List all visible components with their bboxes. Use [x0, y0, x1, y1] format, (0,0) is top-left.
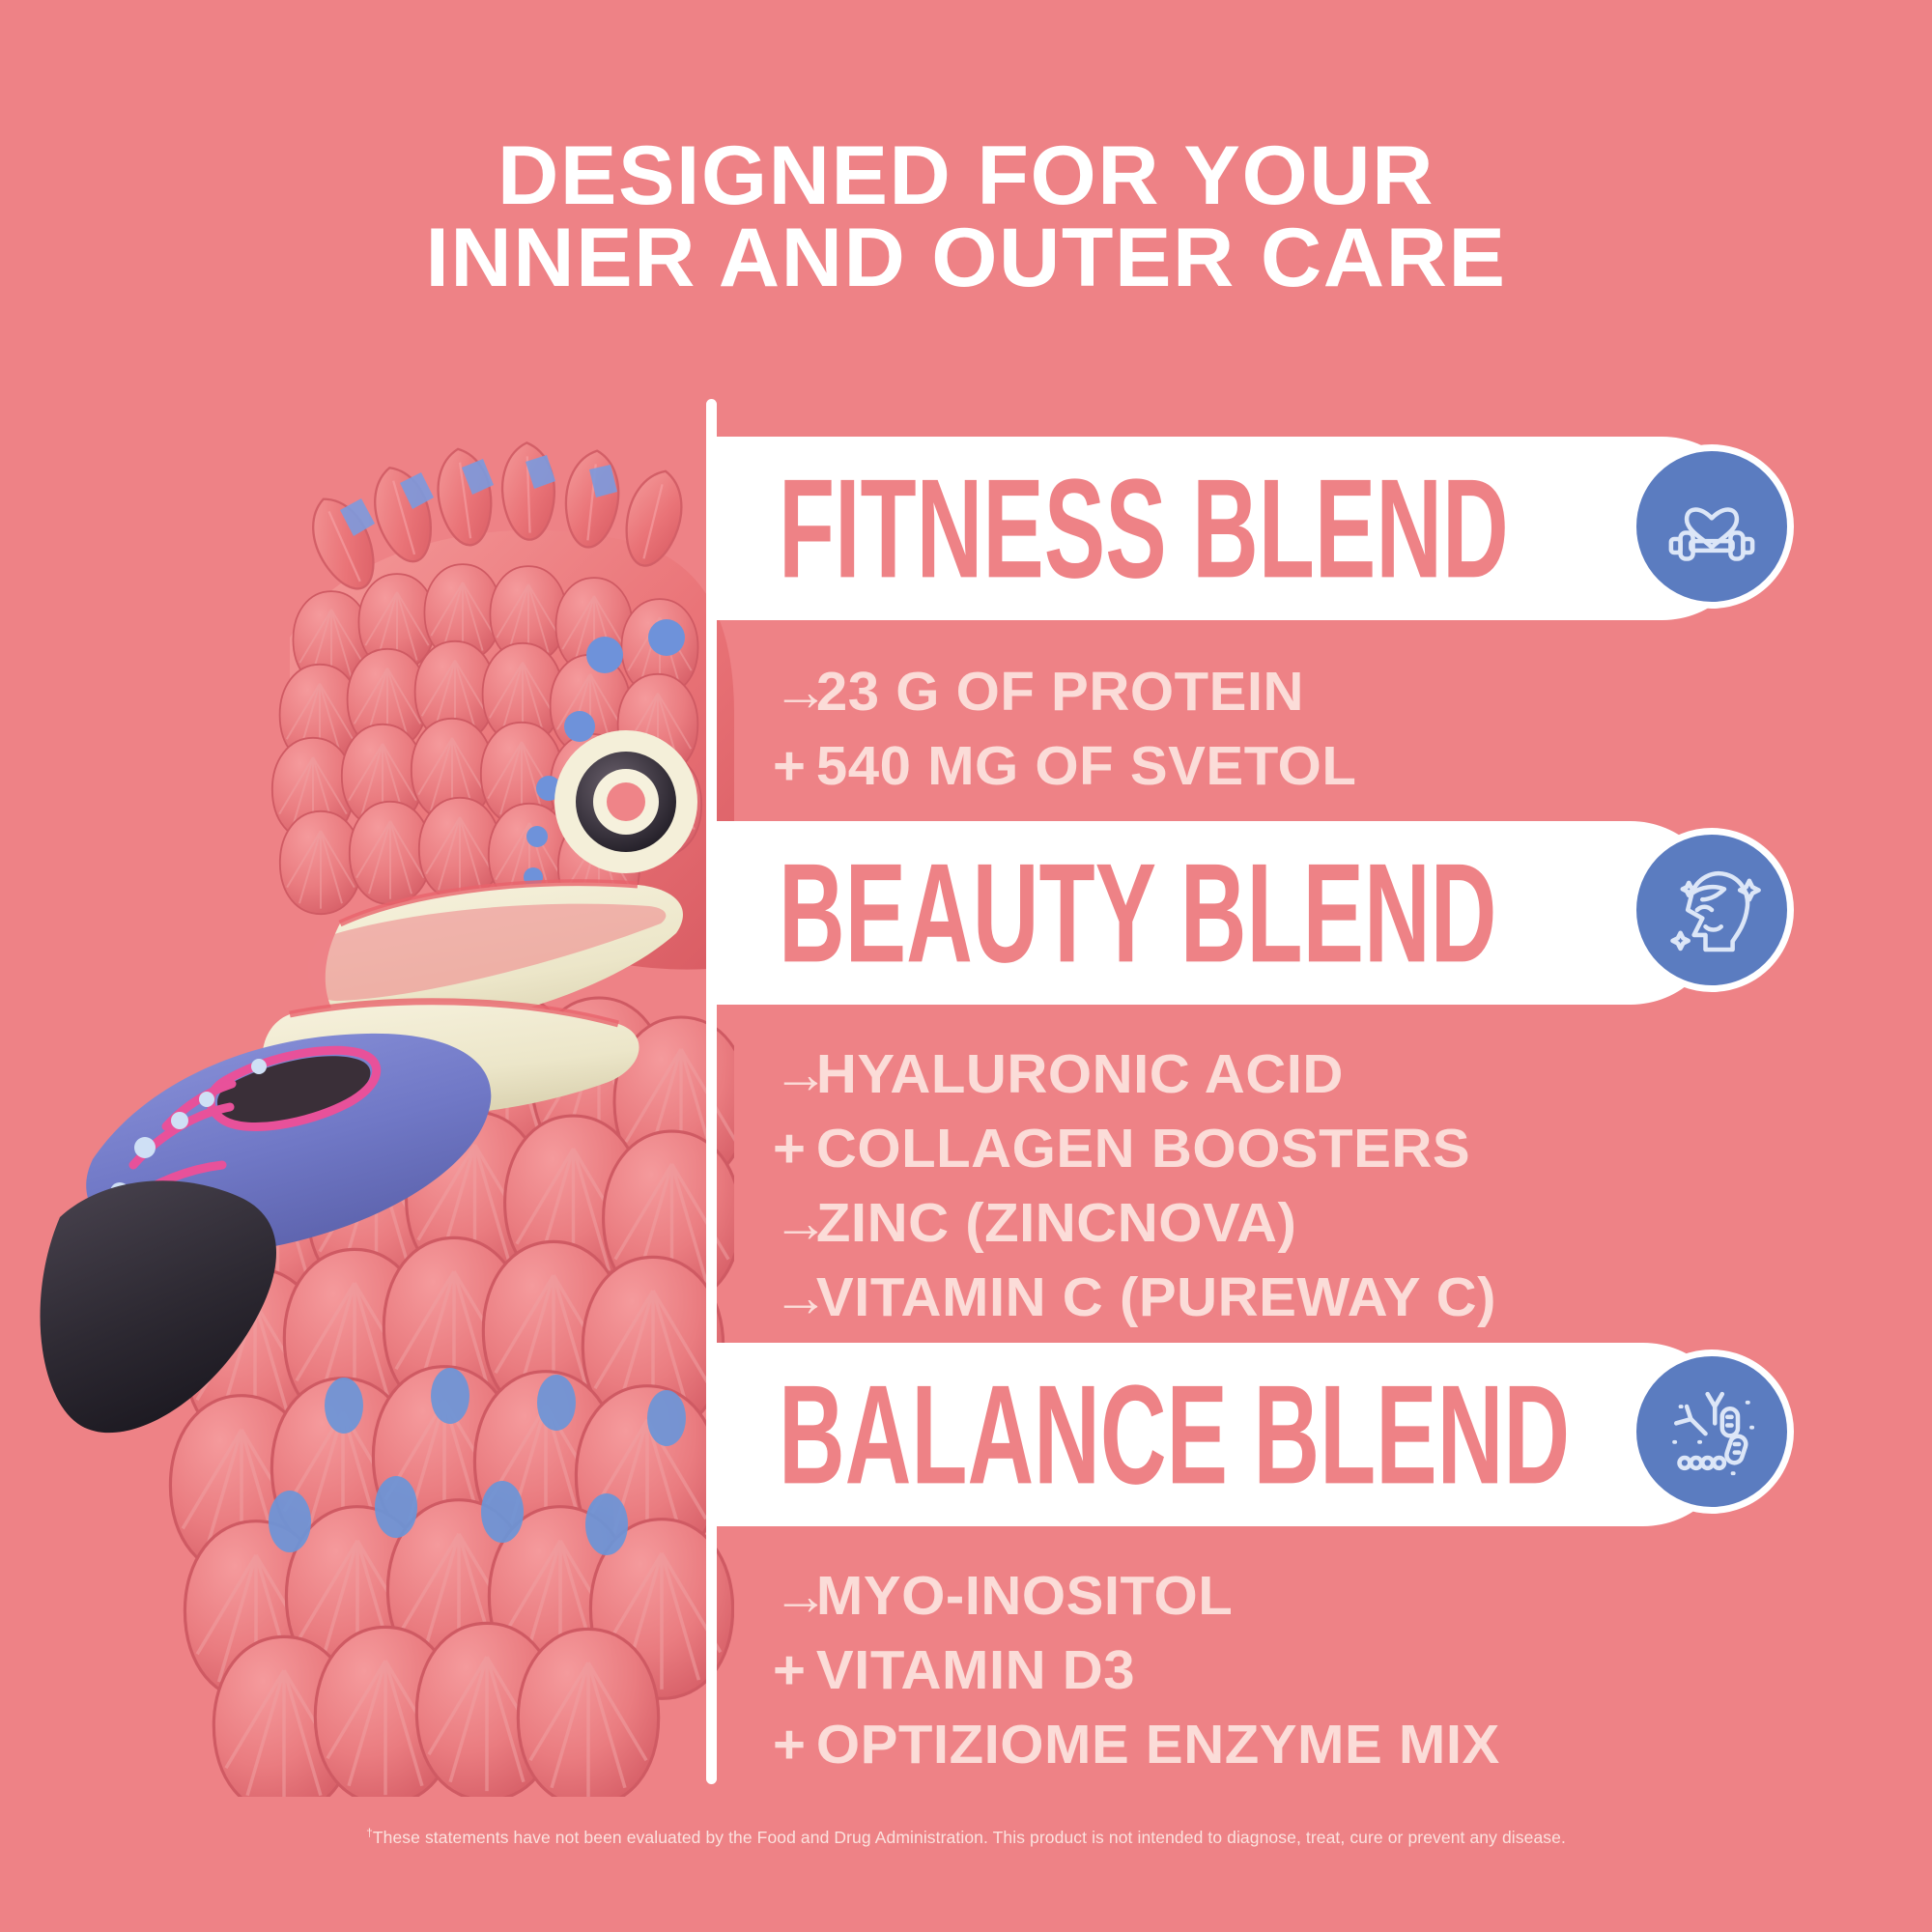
list-item: → 23 G OF PROTEIN: [773, 665, 1356, 720]
flamingo-eye: [554, 730, 697, 873]
bullet-marker: →: [773, 1569, 816, 1624]
bullet-text: COLLAGEN BOOSTERS: [816, 1122, 1470, 1177]
bullet-text: 540 MG OF SVETOL: [816, 739, 1357, 794]
bullet-marker: →: [773, 1047, 816, 1102]
list-item: + VITAMIN D3: [773, 1643, 1500, 1698]
blend-title-beauty: BEAUTY BLEND: [779, 842, 1496, 983]
list-item: + OPTIZIOME ENZYME MIX: [773, 1718, 1500, 1773]
blend-title-balance: BALANCE BLEND: [779, 1364, 1570, 1505]
blend-items-fitness: → 23 G OF PROTEIN + 540 MG OF SVETOL: [773, 665, 1346, 813]
bullet-text: VITAMIN C (PUREWAY C): [816, 1270, 1496, 1325]
bullet-marker: +: [773, 1122, 816, 1177]
bullet-text: OPTIZIOME ENZYME MIX: [816, 1718, 1500, 1773]
bullet-marker: +: [773, 1643, 816, 1698]
bullet-text: ZINC (ZINCNOVA): [816, 1196, 1296, 1251]
microbiome-antibody-icon: [1630, 1350, 1794, 1514]
heart-dumbbell-icon: [1630, 444, 1794, 609]
disclaimer-marker: †: [366, 1826, 373, 1839]
list-item: + COLLAGEN BOOSTERS: [773, 1122, 1496, 1177]
list-item: → MYO-INOSITOL: [773, 1569, 1500, 1624]
list-item: → ZINC (ZINCNOVA): [773, 1196, 1496, 1251]
blend-card-fitness[interactable]: FITNESS BLEND: [711, 437, 1754, 620]
list-item: + 540 MG OF SVETOL: [773, 739, 1356, 794]
blend-title-fitness: FITNESS BLEND: [779, 458, 1509, 599]
bullet-text: MYO-INOSITOL: [816, 1569, 1233, 1624]
disclaimer-text: These statements have not been evaluated…: [373, 1828, 1566, 1847]
bullet-marker: →: [773, 665, 816, 720]
headline-line-2: INNER AND OUTER CARE: [0, 217, 1932, 299]
headline-line-1: DESIGNED FOR YOUR: [0, 135, 1932, 217]
list-item: → VITAMIN C (PUREWAY C): [773, 1270, 1496, 1325]
bullet-text: VITAMIN D3: [816, 1643, 1135, 1698]
blend-card-beauty[interactable]: BEAUTY BLEND: [711, 821, 1722, 1005]
bullet-marker: +: [773, 739, 816, 794]
blend-items-beauty: → HYALURONIC ACID + COLLAGEN BOOSTERS → …: [773, 1047, 1482, 1345]
legal-disclaimer: †These statements have not been evaluate…: [0, 1826, 1932, 1848]
poster-canvas: DESIGNED FOR YOUR INNER AND OUTER CARE: [0, 0, 1932, 1932]
list-item: → HYALURONIC ACID: [773, 1047, 1496, 1102]
bullet-text: HYALURONIC ACID: [816, 1047, 1344, 1102]
blend-items-balance: → MYO-INOSITOL + VITAMIN D3 + OPTIZIOME …: [773, 1569, 1486, 1792]
bullet-marker: →: [773, 1196, 816, 1251]
bullet-marker: +: [773, 1718, 816, 1773]
page-title: DESIGNED FOR YOUR INNER AND OUTER CARE: [0, 135, 1932, 299]
bullet-text: 23 G OF PROTEIN: [816, 665, 1304, 720]
blend-card-balance[interactable]: BALANCE BLEND: [711, 1343, 1735, 1526]
bullet-marker: →: [773, 1270, 816, 1325]
face-profile-sparkle-icon: [1630, 828, 1794, 992]
flamingo-illustration: [0, 348, 734, 1797]
